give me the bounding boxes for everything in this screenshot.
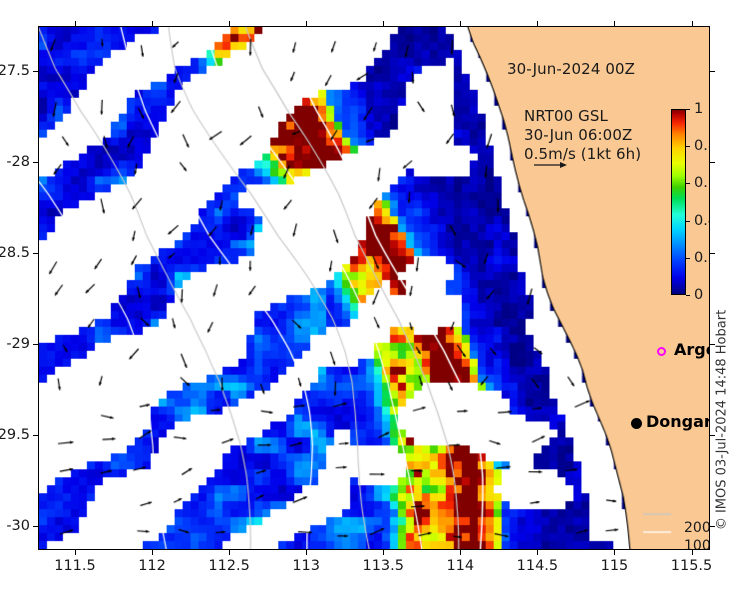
gsl-time-label: 30-Jun 06:00Z — [524, 126, 641, 145]
depth-legend-200m: 200m — [684, 519, 710, 537]
colorbar-tick-label: 0.2 — [694, 250, 710, 266]
y-tick-label: -30 — [6, 518, 30, 534]
x-tick-mark-top — [614, 21, 615, 26]
y-tick-label: -29.5 — [0, 427, 30, 443]
x-tick-label: 111.5 — [54, 558, 96, 574]
sst-std-dev-map-figure: 30-Jun-2024 00Z NRT00 GSL 30-Jun 06:00Z … — [0, 0, 740, 592]
colorbar-gradient — [671, 109, 686, 295]
x-tick-mark — [460, 550, 461, 555]
y-tick-mark — [33, 526, 38, 527]
colorbar-tick-mark — [686, 295, 690, 296]
colorbar-tick-mark — [686, 146, 690, 147]
gsl-product-label: NRT00 GSL — [524, 107, 641, 126]
x-tick-label: 113.5 — [362, 558, 404, 574]
x-tick-mark — [229, 550, 230, 555]
x-tick-mark — [306, 550, 307, 555]
x-tick-mark — [383, 550, 384, 555]
colorbar-tick-label: 0.4 — [694, 213, 710, 229]
y-tick-mark — [33, 71, 38, 72]
sst-heatmap-canvas — [39, 27, 709, 549]
x-tick-mark-top — [306, 21, 307, 26]
y-tick-label: -27.5 — [0, 63, 30, 79]
x-tick-mark — [75, 550, 76, 555]
y-tick-mark-right — [710, 71, 715, 72]
map-plot-area[interactable]: 30-Jun-2024 00Z NRT00 GSL 30-Jun 06:00Z … — [38, 26, 710, 550]
colorbar-tick-label: 0 — [694, 287, 703, 303]
depth-contour-legend: 200m 1000m — [684, 519, 710, 550]
y-tick-label: -28 — [6, 154, 30, 170]
argo-marker-icon[interactable] — [657, 347, 666, 356]
colorbar: std dev of 4hr SST comp 00.20.40.60.81 — [671, 109, 710, 295]
y-tick-label: -29 — [6, 336, 30, 352]
colorbar-tick-mark — [686, 221, 690, 222]
x-tick-label: 114 — [446, 558, 474, 574]
dongara-marker-icon[interactable] — [631, 418, 642, 429]
colorbar-tick-mark — [686, 109, 690, 110]
x-tick-mark-top — [460, 21, 461, 26]
x-tick-mark-top — [537, 21, 538, 26]
y-tick-mark-right — [710, 162, 715, 163]
right-arrow-icon — [533, 160, 567, 170]
x-tick-label: 113 — [292, 558, 320, 574]
gsl-annotation-block: NRT00 GSL 30-Jun 06:00Z 0.5m/s (1kt 6h) — [524, 107, 641, 164]
date-stamp-label: 30-Jun-2024 00Z — [507, 60, 635, 78]
x-tick-mark-top — [692, 21, 693, 26]
argo-label: Argo — [674, 340, 710, 359]
colorbar-tick-mark — [686, 183, 690, 184]
y-tick-mark — [33, 344, 38, 345]
x-tick-label: 112 — [138, 558, 166, 574]
x-tick-label: 114.5 — [517, 558, 559, 574]
colorbar-tick-mark — [686, 258, 690, 259]
y-tick-mark — [33, 253, 38, 254]
depth-legend-1000m: 1000m — [684, 537, 710, 550]
y-tick-mark — [33, 162, 38, 163]
x-tick-mark-top — [75, 21, 76, 26]
colorbar-tick-label: 0.8 — [694, 138, 710, 154]
x-tick-label: 112.5 — [208, 558, 250, 574]
x-tick-mark-top — [383, 21, 384, 26]
x-tick-mark — [692, 550, 693, 555]
x-tick-mark — [537, 550, 538, 555]
x-tick-label: 115.5 — [671, 558, 713, 574]
x-tick-mark-top — [152, 21, 153, 26]
x-tick-mark-top — [229, 21, 230, 26]
dongara-label: Dongara — [646, 412, 710, 431]
x-tick-mark — [614, 550, 615, 555]
y-tick-mark-right — [710, 253, 715, 254]
x-tick-label: 115 — [601, 558, 629, 574]
y-tick-mark — [33, 435, 38, 436]
colorbar-tick-label: 1 — [694, 101, 703, 117]
colorbar-tick-label: 0.6 — [694, 175, 710, 191]
y-tick-label: -28.5 — [0, 245, 30, 261]
x-tick-mark — [152, 550, 153, 555]
credit-label: © IMOS 03-Jul-2024 14:48 Hobart — [715, 310, 730, 530]
